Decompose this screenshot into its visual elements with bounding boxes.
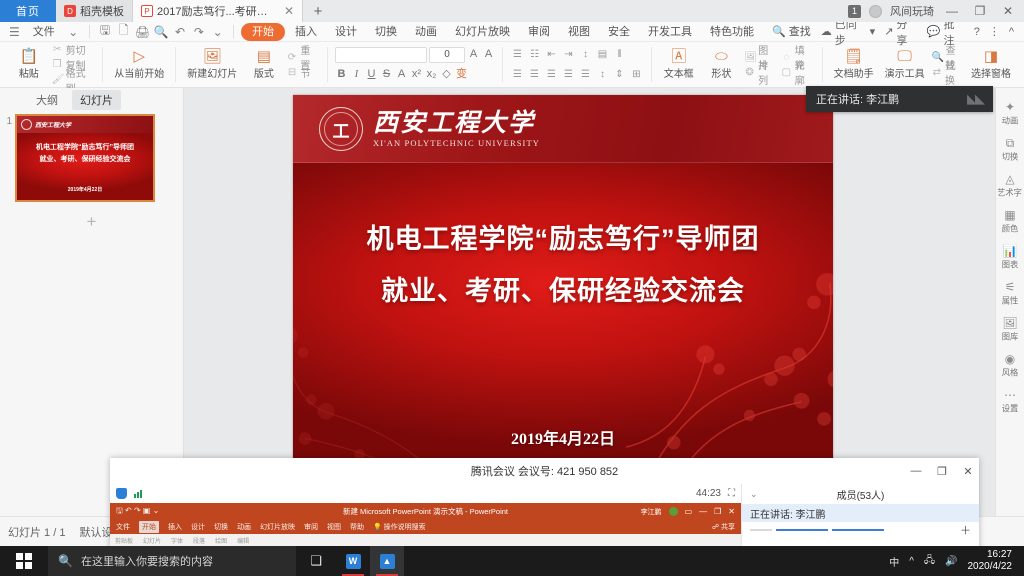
search-icon: 🔍 xyxy=(932,52,943,63)
sidebar-item-transition[interactable]: ⧉切换 xyxy=(996,132,1024,168)
tab-devtools[interactable]: 开发工具 xyxy=(640,23,700,41)
font-group: 0 A A B I U S A x² x₂ ◇ 变 xyxy=(330,44,500,85)
meeting-title-bar: 腾讯会议 会议号: 421 950 852 — ❐ ✕ xyxy=(110,458,979,484)
seal-glyph: 工 xyxy=(333,117,350,142)
sidebar-item-label: 颜色 xyxy=(1002,223,1019,235)
shared-ppt-user: 李江鹏 xyxy=(641,507,662,517)
tab-transition[interactable]: 切换 xyxy=(367,23,405,41)
shared-search-label: 操作说明搜索 xyxy=(384,524,426,531)
line-spacing-icon[interactable]: ↕ xyxy=(595,67,610,82)
navigator-tabs: 大纲 幻灯片 xyxy=(0,88,183,108)
subscript-icon[interactable]: x₂ xyxy=(425,67,438,82)
shared-tab-view: 视图 xyxy=(327,522,341,532)
sidebar-item-gallery[interactable]: 🖼图库 xyxy=(996,312,1024,348)
tools-group: 🗒 文档助手 🖵 演示工具 🔍查找 ⇄替换 ◨ 选择窗格 xyxy=(825,44,1020,85)
close-button[interactable]: ✕ xyxy=(998,4,1018,18)
insert-group: 🄰 文本框 ⬭ 形状 🖼图片 ❂排列 ◌填充 ▢轮廓 xyxy=(654,44,820,85)
close-button[interactable]: ✕ xyxy=(961,465,975,478)
user-name[interactable]: 风间玩琦 xyxy=(890,3,934,19)
tab-start[interactable]: 开始 xyxy=(241,23,285,41)
tab-design[interactable]: 设计 xyxy=(327,23,365,41)
slide-title-line2: 就业、考研、保研经验交流会 xyxy=(293,265,833,317)
play-icon: ▷ xyxy=(133,49,145,64)
italic-icon[interactable]: I xyxy=(350,67,363,82)
shared-tab-help: 帮助 xyxy=(350,522,364,532)
picture-icon: 🖼 xyxy=(744,52,755,63)
sidebar-item-label: 属性 xyxy=(1002,295,1019,307)
university-seal-icon: 工 xyxy=(319,107,363,151)
clock-date: 2020/4/22 xyxy=(968,561,1013,573)
tab-view[interactable]: 视图 xyxy=(560,23,598,41)
windows-start-icon xyxy=(16,553,32,569)
replace-button[interactable]: ⇄替换 xyxy=(932,66,964,79)
member-name-placeholder xyxy=(776,529,828,531)
taskbar-clock[interactable]: 16:27 2020/4/22 xyxy=(968,549,1017,573)
clock-time: 16:27 xyxy=(968,549,1013,561)
ribbon-toolbar: 📋 粘贴 ✂剪切 ❐复制 🖌格式刷 ▷ 从当前开始 🖼 新建幻灯片 ▤ xyxy=(0,42,1024,88)
sidebar-item-color[interactable]: ▦颜色 xyxy=(996,204,1024,240)
find-replace-buttons: 🔍查找 ⇄替换 xyxy=(932,44,964,86)
speaking-row[interactable]: 正在讲话: 李江鹏 xyxy=(742,504,979,522)
tab-security[interactable]: 安全 xyxy=(600,23,638,41)
task-view-icon: ❏ xyxy=(310,553,322,569)
signal-icon xyxy=(134,489,142,498)
replace-label: 替换 xyxy=(945,57,964,87)
maximize-button[interactable]: ❐ xyxy=(935,465,949,478)
workspace: 大纲 幻灯片 1 西安工程大学 机电工程学院“励志笃行”导师团就业、考研、保研经… xyxy=(0,88,1024,516)
paste-icon: 📋 xyxy=(19,49,38,64)
undo-icon[interactable]: ↶ xyxy=(172,23,189,40)
shared-group-font: 字体 xyxy=(171,536,183,545)
university-name-en: XI'AN POLYTECHNIC UNIVERSITY xyxy=(373,138,540,148)
wps-ppt-icon: P xyxy=(141,5,153,17)
shared-share-label: 共享 xyxy=(721,524,735,531)
shrink-font-icon[interactable]: A xyxy=(482,47,495,62)
paragraph-row-top: ☰ ☷ ⇤ ⇥ ↕ ▤ ⫴ xyxy=(510,46,644,63)
speaking-text: 正在讲话: 李江鹏 xyxy=(750,506,826,521)
scissors-icon: ✂ xyxy=(52,44,63,55)
shared-tab-start: 开始 xyxy=(139,521,159,533)
right-tool-sidebar: ✦动画 ⧉切换 ◬艺术字 ▦颜色 📊图表 ⚟属性 🖼图库 ◉风格 ⋯设置 xyxy=(995,88,1024,516)
divider xyxy=(327,47,328,82)
arrange-label: 排列 xyxy=(758,57,778,87)
slide-navigator-panel: 大纲 幻灯片 1 西安工程大学 机电工程学院“励志笃行”导师团就业、考研、保研经… xyxy=(0,88,184,516)
increase-indent-icon[interactable]: ⇥ xyxy=(561,47,576,62)
speaking-toast: 正在讲话: 李江鹏 ◣◣ xyxy=(806,86,993,112)
chevron-down-icon[interactable]: ⌄ xyxy=(65,23,82,40)
plus-icon: + xyxy=(314,3,323,20)
tab-features[interactable]: 特色功能 xyxy=(702,23,762,41)
divider xyxy=(502,47,503,82)
divider xyxy=(233,25,234,38)
print-icon[interactable]: 🖨 xyxy=(134,23,151,40)
redo-icon[interactable]: ↷ xyxy=(190,23,207,40)
slide-count-label: 幻灯片 1 / 1 xyxy=(8,524,65,540)
shared-ppt-groups: 剪贴板 幻灯片 字体 段落 绘图 编辑 xyxy=(110,534,741,546)
tab-slideshow[interactable]: 幻灯片放映 xyxy=(447,23,518,41)
clipboard-small-buttons: ✂剪切 ❐复制 🖌格式刷 xyxy=(52,44,96,86)
superscript-icon[interactable]: x² xyxy=(410,67,423,82)
wps-doc-icon: D xyxy=(64,5,76,17)
shared-search-hint: 💡 操作说明搜索 xyxy=(373,522,426,532)
shield-icon[interactable] xyxy=(116,488,127,499)
divider xyxy=(102,47,103,82)
search-icon: 🔍 xyxy=(58,554,73,568)
shared-tab-transition: 切换 xyxy=(214,522,228,532)
sidebar-item-label: 图库 xyxy=(1002,331,1019,343)
section-icon: ⊟ xyxy=(287,67,298,78)
document-tab-docer[interactable]: D 稻壳模板 xyxy=(56,0,133,22)
tencent-meeting-window: 腾讯会议 会议号: 421 950 852 — ❐ ✕ 44:23 ⛶ 🖫 ↶ … xyxy=(110,458,979,556)
new-slide-button[interactable]: 🖼 新建幻灯片 xyxy=(183,44,241,86)
new-tab-button[interactable]: + xyxy=(303,0,333,22)
chart-icon: 📊 xyxy=(1003,245,1018,257)
textbox-icon: 🄰 xyxy=(671,49,686,64)
minimize-button[interactable]: — xyxy=(942,4,962,18)
sidebar-item-settings[interactable]: ⋯设置 xyxy=(996,384,1024,420)
shared-ppt-titlebar: 🖫 ↶ ↷ ▣ ⌄ 新建 Microsoft PowerPoint 演示文稿 -… xyxy=(110,503,741,520)
taskbar-app-tencent-meeting[interactable]: ▲ xyxy=(370,546,404,576)
paste-label: 粘贴 xyxy=(19,65,39,80)
chevron-down-icon[interactable]: ⌄ xyxy=(750,489,758,500)
tab-review[interactable]: 审阅 xyxy=(520,23,558,41)
replace-icon: ⇄ xyxy=(932,67,942,78)
minimize-button: — xyxy=(699,507,707,516)
shared-share-button: ☍ 共享 xyxy=(712,522,735,532)
copy-icon: ❐ xyxy=(52,59,63,70)
more-icon[interactable]: ⋮ xyxy=(989,25,1000,38)
fill-icon: ◌ xyxy=(781,52,792,63)
document-tab-strip: 首页 D 稻壳模板 P 2017励志笃行...考研就业交流会议 ✕ + 1 风间… xyxy=(0,0,1024,22)
shared-tab-design: 设计 xyxy=(191,522,205,532)
collapse-ribbon-icon[interactable]: ^ xyxy=(1009,26,1014,38)
speaking-toast-text: 正在讲话: 李江鹏 xyxy=(816,91,899,107)
textbox-button[interactable]: 🄰 文本框 xyxy=(659,44,699,86)
slide-thumbnail-row: 1 西安工程大学 机电工程学院“励志笃行”导师团就业、考研、保研经验交流会 20… xyxy=(0,108,183,202)
shape-label: 形状 xyxy=(711,65,731,80)
sidebar-item-label: 图表 xyxy=(1002,259,1019,271)
paragraph-spacing-icon[interactable]: ⇕ xyxy=(612,67,627,82)
present-group: ▷ 从当前开始 xyxy=(105,44,173,85)
layout-button[interactable]: ▤ 版式 xyxy=(244,44,283,86)
slides-group: 🖼 新建幻灯片 ▤ 版式 ⟳重置 ⊟节 xyxy=(178,44,325,85)
format-painter-button[interactable]: 🖌格式刷 xyxy=(52,73,96,86)
close-button: ✕ xyxy=(728,507,735,516)
style-icon: ◉ xyxy=(1005,353,1015,365)
insert-small-buttons-a: 🖼图片 ❂排列 xyxy=(744,44,778,86)
print-preview-icon[interactable]: 🗋 xyxy=(115,23,132,40)
align-left-icon[interactable]: ☰ xyxy=(510,67,525,82)
ribbon-menu-bar: ☰ 文件 ⌄ 🖫 🗋 🖨 🔍 ↶ ↷ ⌄ 开始 插入 设计 切换 动画 幻灯片放… xyxy=(0,22,1024,42)
clear-format-icon[interactable]: ◇ xyxy=(440,67,453,82)
wordart-icon: ◬ xyxy=(1005,173,1014,185)
meeting-window-buttons: — ❐ ✕ xyxy=(909,458,975,484)
shared-tab-file: 文件 xyxy=(116,522,130,532)
meeting-video-toolbar: 44:23 ⛶ xyxy=(110,484,741,503)
document-tab-label: 稻壳模板 xyxy=(80,3,124,19)
paste-button[interactable]: 📋 粘贴 xyxy=(9,44,49,86)
member-list-item[interactable]: ＋ xyxy=(742,522,979,538)
restore-button[interactable]: ❐ xyxy=(970,4,990,18)
slide-canvas[interactable]: 工 西安工程大学 XI'AN POLYTECHNIC UNIVERSITY 机电… xyxy=(293,95,833,461)
find-label: 查找 xyxy=(789,26,811,38)
bullets-icon[interactable]: ☰ xyxy=(510,47,525,62)
ime-indicator[interactable]: 中 xyxy=(889,554,899,569)
present-tools-button[interactable]: 🖵 演示工具 xyxy=(881,44,929,86)
settings-icon: ⋯ xyxy=(1004,389,1016,401)
document-tab-active[interactable]: P 2017励志笃行...考研就业交流会议 ✕ xyxy=(133,0,303,22)
distribute-icon[interactable]: ☰ xyxy=(578,67,593,82)
grow-font-icon[interactable]: A xyxy=(467,47,480,62)
section-button[interactable]: ⊟节 xyxy=(287,66,320,79)
member-avatar-placeholder xyxy=(750,529,772,531)
layout-label: 版式 xyxy=(254,65,274,80)
text-shadow-icon[interactable]: A xyxy=(395,67,408,82)
select-pane-label: 选择窗格 xyxy=(971,65,1011,80)
network-icon[interactable]: 🖧 xyxy=(924,553,935,570)
sidebar-item-label: 切换 xyxy=(1002,151,1019,163)
tab-outline[interactable]: 大纲 xyxy=(28,90,66,110)
present-tools-label: 演示工具 xyxy=(885,65,925,80)
sidebar-item-chart[interactable]: 📊图表 xyxy=(996,240,1024,276)
reset-icon: ⟳ xyxy=(287,52,298,63)
shared-group-paragraph: 段落 xyxy=(193,536,205,545)
arrange-icon: ❂ xyxy=(744,67,755,78)
slide-small-buttons: ⟳重置 ⊟节 xyxy=(287,44,320,86)
list-level-icon[interactable]: ⊞ xyxy=(629,67,644,82)
minimize-button[interactable]: — xyxy=(909,465,923,477)
file-menu[interactable]: 文件 xyxy=(25,23,63,41)
member-action-placeholder xyxy=(832,529,884,531)
tab-animation[interactable]: 动画 xyxy=(407,23,445,41)
waveform-icon: ◣◣ xyxy=(967,91,983,107)
gallery-icon: 🖼 xyxy=(1002,317,1017,329)
brush-icon: 🖌 xyxy=(52,74,63,85)
align-center-icon[interactable]: ☰ xyxy=(527,67,542,82)
invite-member-icon[interactable]: ＋ xyxy=(960,522,971,538)
shared-group-drawing: 绘图 xyxy=(215,536,227,545)
wps-icon: W xyxy=(346,554,361,569)
members-title: 成员(53人) xyxy=(742,487,979,502)
shared-group-editing: 编辑 xyxy=(237,536,249,545)
text-direction-icon[interactable]: ↕ xyxy=(578,47,593,62)
slide-date[interactable]: 2019年4月22日 xyxy=(293,425,833,449)
sidebar-item-label: 设置 xyxy=(1002,403,1019,415)
doc-assistant-button[interactable]: 🗒 文档助手 xyxy=(830,44,878,86)
divider xyxy=(89,25,90,38)
font-name-input[interactable] xyxy=(335,47,427,63)
align-right-icon[interactable]: ☰ xyxy=(544,67,559,82)
shape-button[interactable]: ⬭ 形状 xyxy=(702,44,742,86)
shape-icon: ⬭ xyxy=(715,49,728,64)
system-tray: 中 ^ 🖧 🔊 16:27 2020/4/22 xyxy=(889,549,1024,573)
animation-icon: ✦ xyxy=(1005,101,1015,113)
shared-group-slides: 幻灯片 xyxy=(143,536,161,545)
paragraph-group: ☰ ☷ ⇤ ⇥ ↕ ▤ ⫴ ☰ ☰ ☰ ☰ ☰ ↕ ⇕ ⊞ xyxy=(505,44,649,85)
numbering-icon[interactable]: ☷ xyxy=(527,47,542,62)
avatar xyxy=(669,507,678,516)
shared-group-clipboard: 剪贴板 xyxy=(115,536,133,545)
volume-icon[interactable]: 🔊 xyxy=(945,556,957,567)
find-button[interactable]: 🔍 查找 xyxy=(764,23,819,41)
font-row-top: 0 A A xyxy=(335,46,495,63)
notification-badge[interactable]: 1 xyxy=(848,5,861,18)
document-tab-label: 2017励志笃行...考研就业交流会议 xyxy=(157,3,278,19)
university-name-cn: 西安工程大学 xyxy=(373,110,540,137)
tab-slides[interactable]: 幻灯片 xyxy=(72,90,121,110)
tencent-meeting-icon: ▲ xyxy=(380,554,395,569)
members-panel-header: ⌄ 成员(53人) xyxy=(742,484,979,504)
ribbon-options-icon: ▭ xyxy=(685,507,693,516)
sidebar-item-wordart[interactable]: ◬艺术字 xyxy=(996,168,1024,204)
sidebar-item-label: 风格 xyxy=(1002,367,1019,379)
properties-icon: ⚟ xyxy=(1005,281,1016,293)
font-size-input[interactable]: 0 xyxy=(429,47,465,63)
doc-assistant-icon: 🗒 xyxy=(844,49,863,64)
color-icon: ▦ xyxy=(1004,209,1015,221)
sidebar-item-style[interactable]: ◉风格 xyxy=(996,348,1024,384)
font-row-bottom: B I U S A x² x₂ ◇ 变 xyxy=(335,66,495,83)
fullscreen-icon[interactable]: ⛶ xyxy=(728,488,735,499)
transition-icon: ⧉ xyxy=(1006,137,1015,149)
search-doc-icon[interactable]: 🔍 xyxy=(153,23,170,40)
cut-button[interactable]: ✂剪切 xyxy=(52,43,96,56)
sidebar-item-animation[interactable]: ✦动画 xyxy=(996,96,1024,132)
meeting-title: 腾讯会议 会议号: 421 950 852 xyxy=(471,463,618,479)
present-tools-icon: 🖵 xyxy=(897,49,911,64)
sidebar-item-properties[interactable]: ⚟属性 xyxy=(996,276,1024,312)
titlebar-right: 1 风间玩琦 — ❐ ✕ xyxy=(848,0,1024,22)
restore-button: ❐ xyxy=(714,507,721,516)
layout-icon: ▤ xyxy=(257,49,271,64)
section-label: 节 xyxy=(301,65,311,80)
new-slide-icon: 🖼 xyxy=(203,49,222,64)
start-from-current-button[interactable]: ▷ 从当前开始 xyxy=(110,44,168,86)
shared-ppt-window-right: 李江鹏 ▭ — ❐ ✕ xyxy=(641,507,735,517)
add-slide-button[interactable]: + xyxy=(0,212,183,232)
close-icon[interactable]: ✕ xyxy=(284,4,294,18)
outline-icon: ▢ xyxy=(781,67,792,78)
sidebar-item-label: 动画 xyxy=(1002,115,1019,127)
thumbnail-number: 1 xyxy=(4,114,12,202)
slide-thumbnail[interactable]: 西安工程大学 机电工程学院“励志笃行”导师团就业、考研、保研经验交流会 2019… xyxy=(15,114,155,202)
columns-icon[interactable]: ⫴ xyxy=(612,47,627,62)
underline-icon[interactable]: U xyxy=(365,67,378,82)
search-placeholder: 在这里输入你要搜索的内容 xyxy=(81,553,213,569)
divider xyxy=(175,47,176,82)
tray-expand-icon[interactable]: ^ xyxy=(909,556,914,567)
shared-ppt-ribbon: 文件 开始 插入 设计 切换 动画 幻灯片放映 审阅 视图 帮助 💡 操作说明搜… xyxy=(110,520,741,534)
start-button[interactable] xyxy=(0,546,48,576)
outline-label: 轮廓 xyxy=(795,57,815,87)
hamburger-icon[interactable]: ☰ xyxy=(6,23,23,40)
new-slide-label: 新建幻灯片 xyxy=(187,65,237,80)
divider xyxy=(651,47,652,82)
arrange-button[interactable]: ❂排列 xyxy=(744,66,778,79)
customize-icon[interactable]: ⌄ xyxy=(209,23,226,40)
sidebar-item-label: 艺术字 xyxy=(998,187,1023,199)
doc-assistant-label: 文档助手 xyxy=(834,65,874,80)
clipboard-group: 📋 粘贴 ✂剪切 ❐复制 🖌格式刷 xyxy=(4,44,100,85)
shared-tab-insert: 插入 xyxy=(168,522,182,532)
select-pane-icon: ◨ xyxy=(984,49,998,64)
home-tab[interactable]: 首页 xyxy=(0,0,56,22)
insert-small-buttons-b: ◌填充 ▢轮廓 xyxy=(781,44,815,86)
shared-tab-slideshow: 幻灯片放映 xyxy=(260,522,295,532)
decrease-indent-icon[interactable]: ⇤ xyxy=(544,47,559,62)
save-icon[interactable]: 🖫 xyxy=(97,23,114,40)
home-tab-label: 首页 xyxy=(16,3,40,19)
cut-label: 剪切 xyxy=(66,42,86,57)
taskbar-search[interactable]: 🔍 在这里输入你要搜索的内容 xyxy=(48,546,296,576)
windows-taskbar: 🔍 在这里输入你要搜索的内容 ❏ W ▲ 中 ^ 🖧 🔊 16:27 2020/… xyxy=(0,546,1024,576)
text-effect-icon[interactable]: 变 xyxy=(455,67,468,82)
shared-tab-animation: 动画 xyxy=(237,522,251,532)
university-logo-block: 工 西安工程大学 XI'AN POLYTECHNIC UNIVERSITY xyxy=(319,107,540,151)
task-view-button[interactable]: ❏ xyxy=(296,546,336,576)
slide-title-line1: 机电工程学院“励志笃行”导师团 xyxy=(293,213,833,265)
reset-button[interactable]: ⟳重置 xyxy=(287,51,320,64)
slide-canvas-area: 工 西安工程大学 XI'AN POLYTECHNIC UNIVERSITY 机电… xyxy=(185,88,995,516)
taskbar-app-wps[interactable]: W xyxy=(336,546,370,576)
justify-icon[interactable]: ☰ xyxy=(561,67,576,82)
paragraph-row-bottom: ☰ ☰ ☰ ☰ ☰ ↕ ⇕ ⊞ xyxy=(510,66,644,83)
select-pane-button[interactable]: ◨ 选择窗格 xyxy=(967,44,1015,86)
avatar[interactable] xyxy=(869,5,882,18)
divider xyxy=(822,47,823,82)
meeting-timer: 44:23 xyxy=(696,488,721,499)
slide-title[interactable]: 机电工程学院“励志笃行”导师团 就业、考研、保研经验交流会 xyxy=(293,213,833,317)
shared-tab-review: 审阅 xyxy=(304,522,318,532)
help-icon[interactable]: ? xyxy=(974,26,980,38)
strikethrough-icon[interactable]: S xyxy=(380,67,393,82)
align-text-icon[interactable]: ▤ xyxy=(595,47,610,62)
tab-insert[interactable]: 插入 xyxy=(287,23,325,41)
bold-icon[interactable]: B xyxy=(335,67,348,82)
outline-button[interactable]: ▢轮廓 xyxy=(781,66,815,79)
start-from-current-label: 从当前开始 xyxy=(114,65,164,80)
textbox-label: 文本框 xyxy=(664,65,694,80)
